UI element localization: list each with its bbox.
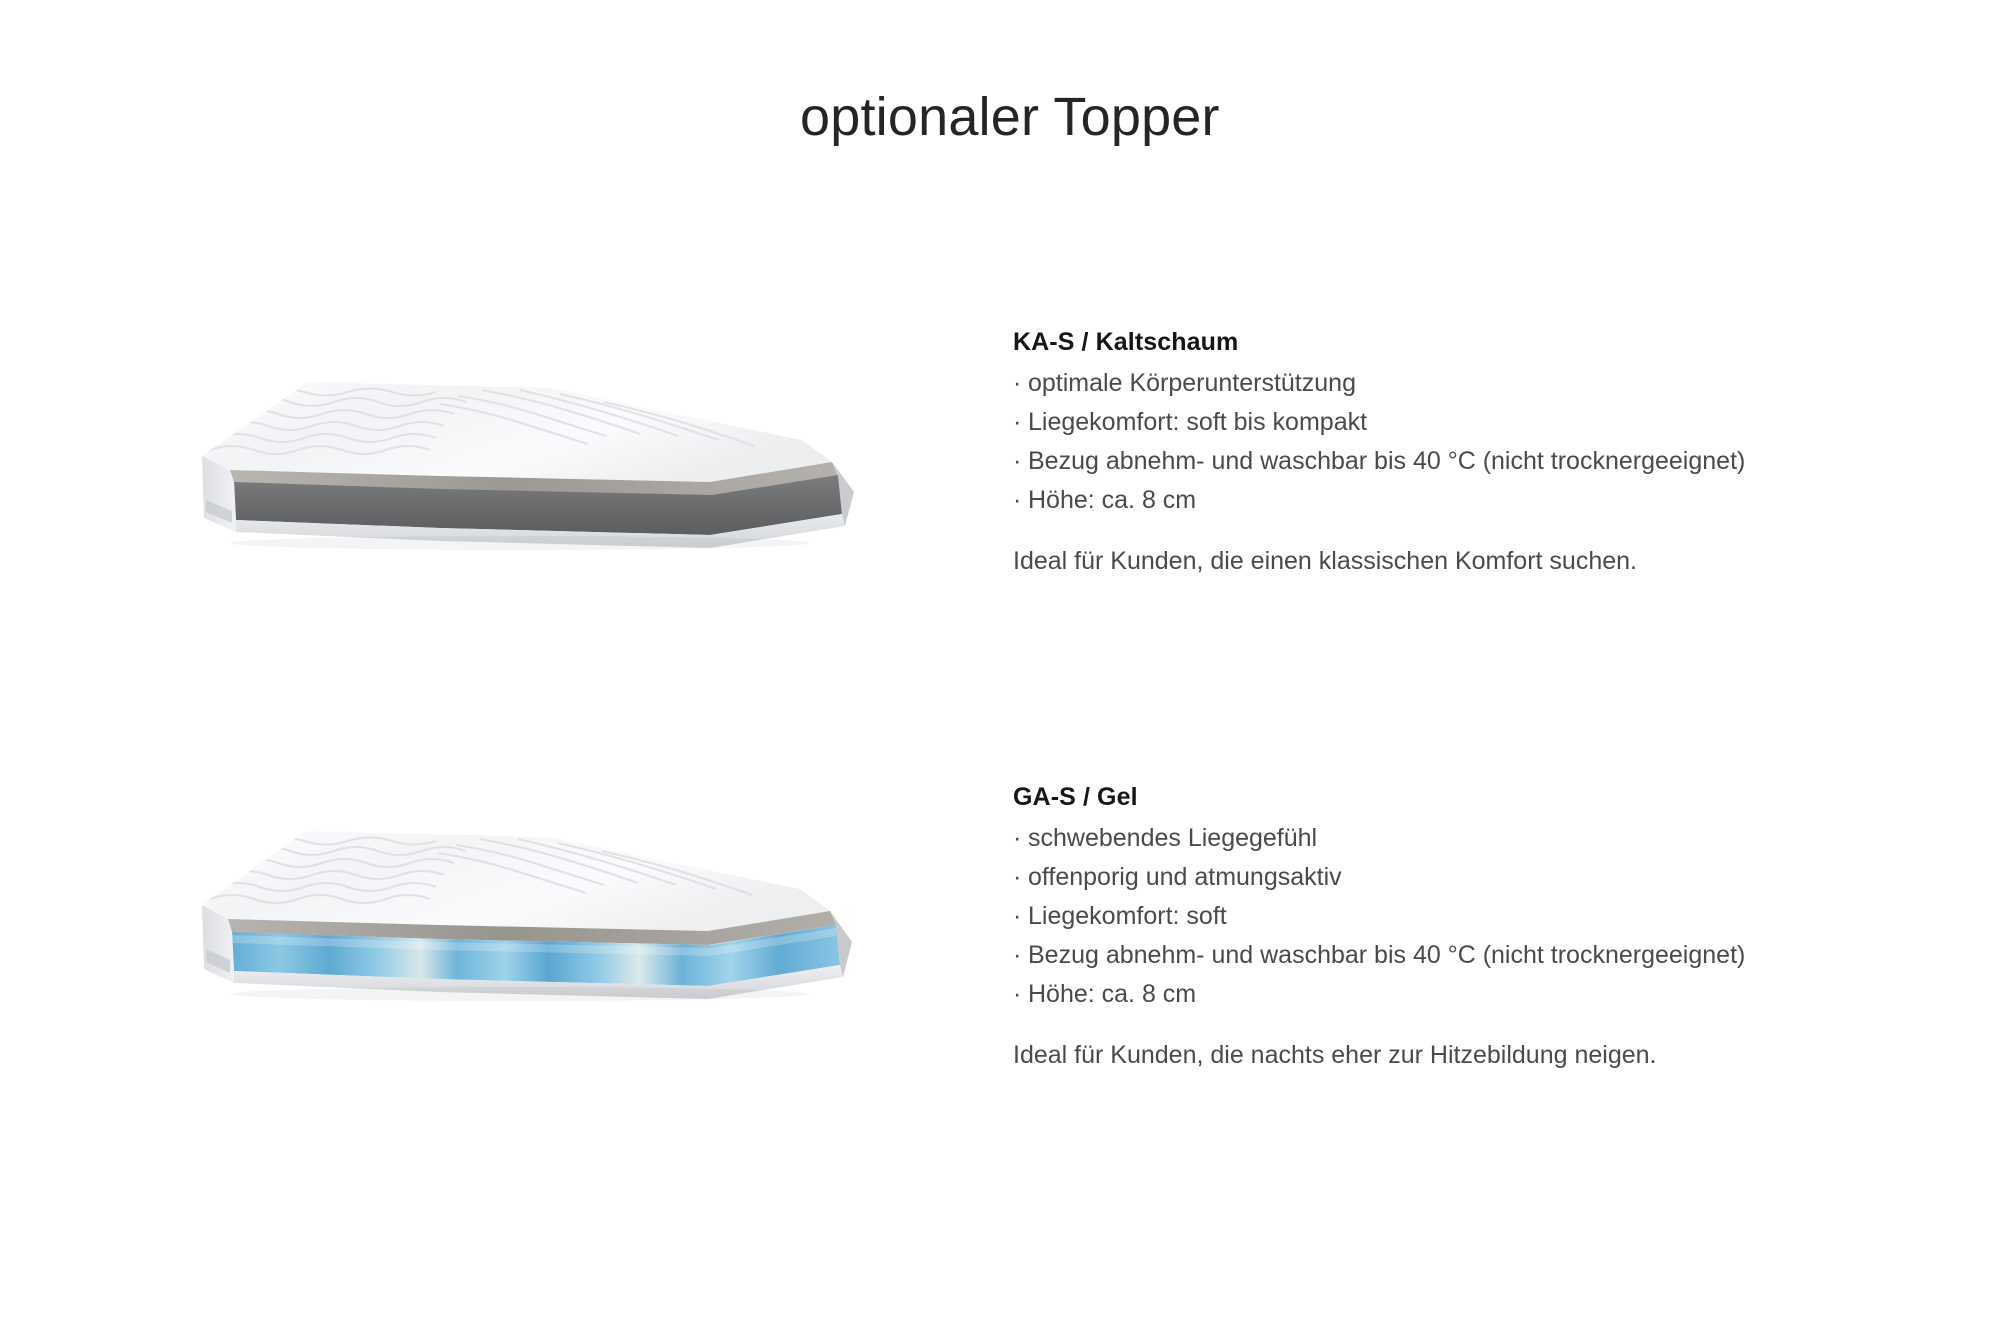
product-details-ga-s: GA-S / Gel ·schwebendes Liegegefühl ·off… bbox=[1013, 785, 1973, 1068]
list-item: ·Höhe: ca. 8 cm bbox=[1013, 488, 1973, 513]
feature-text: Liegekomfort: soft bbox=[1028, 902, 1227, 930]
bullet-dot-icon: · bbox=[1013, 904, 1028, 929]
bullet-dot-icon: · bbox=[1013, 943, 1028, 968]
feature-list: ·schwebendes Liegegefühl ·offenporig und… bbox=[1013, 826, 1973, 1007]
bullet-dot-icon: · bbox=[1013, 865, 1028, 890]
slide-page: optionaler Topper bbox=[0, 0, 2000, 1333]
product-details-ka-s: KA-S / Kaltschaum ·optimale Körperunters… bbox=[1013, 330, 1973, 574]
bullet-dot-icon: · bbox=[1013, 410, 1028, 435]
gel-topper-illustration bbox=[190, 785, 950, 1015]
product-image-ga-s bbox=[190, 785, 950, 1015]
feature-text: optimale Körperunterstützung bbox=[1028, 369, 1356, 397]
feature-text: offenporig und atmungsaktiv bbox=[1028, 863, 1342, 891]
list-item: ·Höhe: ca. 8 cm bbox=[1013, 982, 1973, 1007]
feature-text: Bezug abnehm- und waschbar bis 40 °C (ni… bbox=[1028, 941, 1745, 969]
product-heading: GA-S / Gel bbox=[1013, 785, 1973, 810]
bullet-dot-icon: · bbox=[1013, 982, 1028, 1007]
list-item: ·offenporig und atmungsaktiv bbox=[1013, 865, 1973, 890]
product-summary: Ideal für Kunden, die nachts eher zur Hi… bbox=[1013, 1043, 1973, 1068]
product-image-ka-s bbox=[190, 330, 950, 560]
feature-text: Höhe: ca. 8 cm bbox=[1028, 486, 1196, 514]
bullet-dot-icon: · bbox=[1013, 449, 1028, 474]
feature-text: Liegekomfort: soft bis kompakt bbox=[1028, 408, 1367, 436]
bullet-dot-icon: · bbox=[1013, 371, 1028, 396]
list-item: ·Bezug abnehm- und waschbar bis 40 °C (n… bbox=[1013, 449, 1973, 474]
product-summary: Ideal für Kunden, die einen klassischen … bbox=[1013, 549, 1973, 574]
list-item: ·optimale Körperunterstützung bbox=[1013, 371, 1973, 396]
feature-list: ·optimale Körperunterstützung ·Liegekomf… bbox=[1013, 371, 1973, 513]
feature-text: Bezug abnehm- und waschbar bis 40 °C (ni… bbox=[1028, 447, 1745, 475]
feature-text: Höhe: ca. 8 cm bbox=[1028, 980, 1196, 1008]
feature-text: schwebendes Liegegefühl bbox=[1028, 824, 1317, 852]
list-item: ·Liegekomfort: soft bbox=[1013, 904, 1973, 929]
list-item: ·schwebendes Liegegefühl bbox=[1013, 826, 1973, 851]
list-item: ·Liegekomfort: soft bis kompakt bbox=[1013, 410, 1973, 435]
list-item: ·Bezug abnehm- und waschbar bis 40 °C (n… bbox=[1013, 943, 1973, 968]
kaltschaum-topper-illustration bbox=[190, 330, 950, 560]
page-title: optionaler Topper bbox=[800, 86, 1220, 148]
drop-shadow bbox=[230, 987, 810, 1001]
bullet-dot-icon: · bbox=[1013, 488, 1028, 513]
product-heading: KA-S / Kaltschaum bbox=[1013, 330, 1973, 355]
drop-shadow bbox=[230, 536, 810, 550]
bullet-dot-icon: · bbox=[1013, 826, 1028, 851]
